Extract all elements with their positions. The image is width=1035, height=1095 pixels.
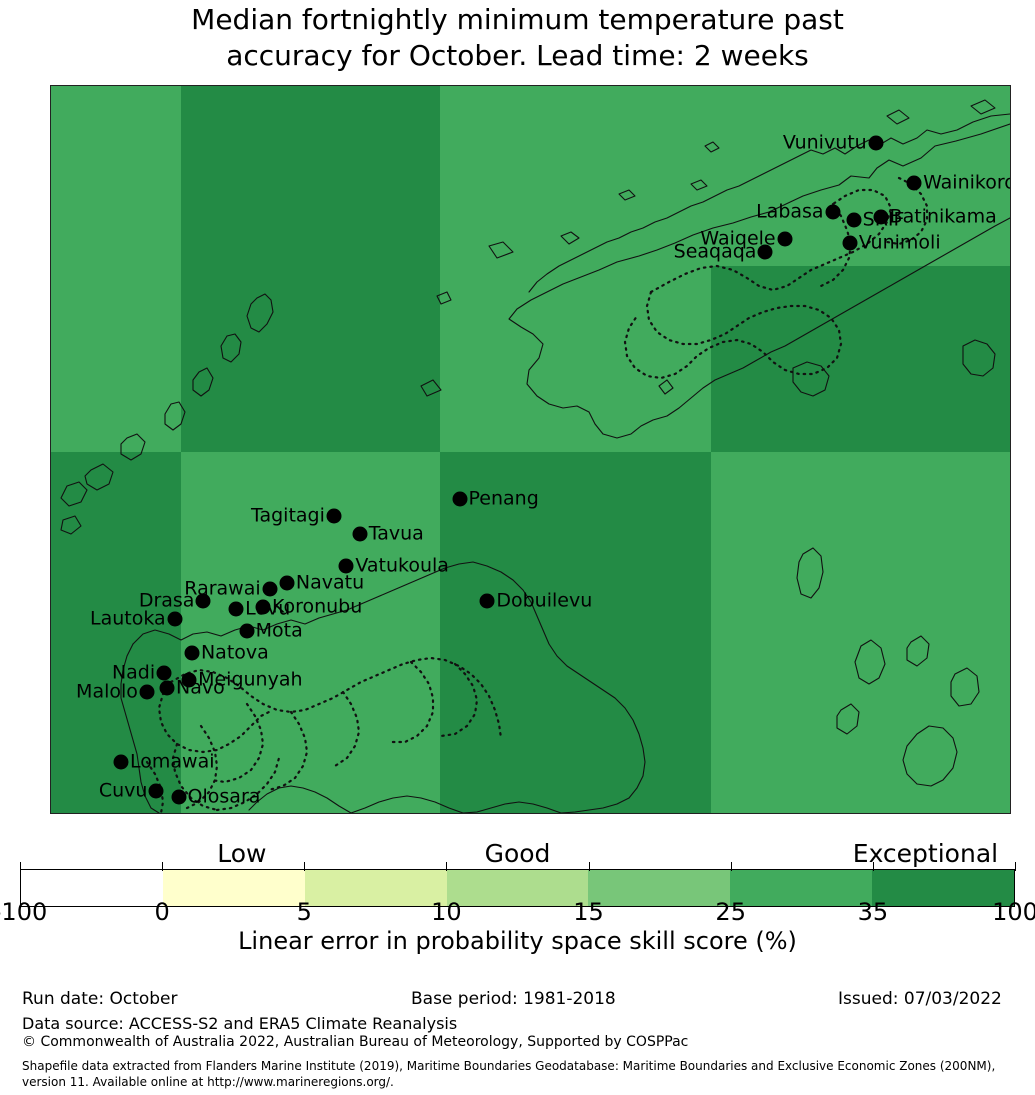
colorbar-tick-mark xyxy=(20,862,21,871)
title-line-1: Median fortnightly minimum temperature p… xyxy=(0,2,1035,38)
colorbar-segment xyxy=(447,870,589,906)
shapefile-attribution-text: Shapefile data extracted from Flanders M… xyxy=(22,1058,1022,1090)
station-label: Dobuilevu xyxy=(496,591,592,610)
colorbar-tick-label: 0 xyxy=(155,900,170,924)
station-label: Labasa xyxy=(756,202,823,221)
colorbar-tick-label: 100 xyxy=(992,900,1035,924)
colorbar-segment xyxy=(305,870,447,906)
colorbar-tick-mark xyxy=(1015,862,1016,871)
colorbar-tick-label: 5 xyxy=(297,900,312,924)
page-title: Median fortnightly minimum temperature p… xyxy=(0,2,1035,74)
station-marker xyxy=(777,231,792,246)
colorbar-axis-label: Linear error in probability space skill … xyxy=(0,927,1035,955)
station-marker xyxy=(114,755,129,770)
station-marker xyxy=(171,790,186,805)
station-marker xyxy=(279,576,294,591)
station-marker xyxy=(452,491,467,506)
colorbar-category-label: Low xyxy=(217,841,266,866)
coastline-overlay xyxy=(51,86,1010,813)
colorbar-tick-mark xyxy=(446,862,447,871)
run-date-text: Run date: October xyxy=(22,989,178,1009)
station-marker xyxy=(184,646,199,661)
station-marker xyxy=(229,602,244,617)
station-marker xyxy=(160,680,175,695)
station-label: Batinikama xyxy=(890,207,997,226)
colorbar-segment xyxy=(163,870,305,906)
colorbar-category-label: Exceptional xyxy=(853,841,998,866)
colorbar-tick-mark xyxy=(873,862,874,871)
forecast-accuracy-map-page: Median fortnightly minimum temperature p… xyxy=(0,0,1035,1095)
colorbar-tick-label: 15 xyxy=(573,900,604,924)
colorbar-tick-mark xyxy=(162,862,163,871)
station-label: Navo xyxy=(176,678,225,697)
colorbar-tick-label: 25 xyxy=(715,900,746,924)
station-marker xyxy=(480,593,495,608)
station-marker xyxy=(873,209,888,224)
copyright-text: © Commonwealth of Australia 2022, Austra… xyxy=(22,1034,688,1051)
station-marker xyxy=(846,213,861,228)
shapefile-line-2: version 11. Available online at http://w… xyxy=(22,1074,1022,1090)
station-label: Penang xyxy=(469,489,539,508)
colorbar-segment xyxy=(588,870,730,906)
station-label: Navatu xyxy=(296,574,364,593)
station-marker xyxy=(139,685,154,700)
station-marker xyxy=(758,244,773,259)
colorbar-tick-mark xyxy=(731,862,732,871)
station-label: Lovu xyxy=(245,600,290,619)
station-label: Tagitagi xyxy=(251,506,325,525)
base-period-text: Base period: 1981-2018 xyxy=(411,989,616,1009)
station-label: Tavua xyxy=(369,524,424,543)
title-line-2: accuracy for October. Lead time: 2 weeks xyxy=(0,38,1035,74)
skill-score-map: VunivutuWainikoroLabasaSRIFBatinikamaWai… xyxy=(50,85,1011,814)
station-label: Vunivutu xyxy=(783,134,867,153)
station-marker xyxy=(352,526,367,541)
station-label: Wainikoro xyxy=(923,174,1011,193)
station-marker xyxy=(196,593,211,608)
data-source-text: Data source: ACCESS-S2 and ERA5 Climate … xyxy=(22,1014,457,1033)
colorbar-segment xyxy=(730,870,872,906)
station-label: Natova xyxy=(201,644,269,663)
station-marker xyxy=(868,136,883,151)
station-label: Mota xyxy=(256,622,303,641)
colorbar-tick-label: 35 xyxy=(858,900,889,924)
colorbar-category-label: Good xyxy=(485,841,551,866)
colorbar-tick-mark xyxy=(304,862,305,871)
station-label: Vatukoula xyxy=(355,556,449,575)
station-marker xyxy=(167,611,182,626)
colorbar-tick-label: 10 xyxy=(431,900,462,924)
station-label: Lautoka xyxy=(90,609,166,628)
station-label: Rarawai xyxy=(184,580,260,599)
station-label: Cuvu xyxy=(99,782,148,801)
station-marker xyxy=(157,666,172,681)
shapefile-line-1: Shapefile data extracted from Flanders M… xyxy=(22,1058,1022,1074)
station-marker xyxy=(326,508,341,523)
station-marker xyxy=(239,624,254,639)
station-marker xyxy=(825,204,840,219)
colorbar-tick-label: -100 xyxy=(0,900,47,924)
station-label: Seaqaqa xyxy=(674,242,757,261)
issued-date-text: Issued: 07/03/2022 xyxy=(838,989,1002,1009)
station-label: Vunimoli xyxy=(859,234,941,253)
station-label: Lomawai xyxy=(130,753,215,772)
station-marker xyxy=(149,784,164,799)
station-marker xyxy=(842,236,857,251)
station-label: Malolo xyxy=(76,683,138,702)
station-label: Olosara xyxy=(188,788,261,807)
station-marker xyxy=(907,176,922,191)
colorbar-tick-mark xyxy=(589,862,590,871)
